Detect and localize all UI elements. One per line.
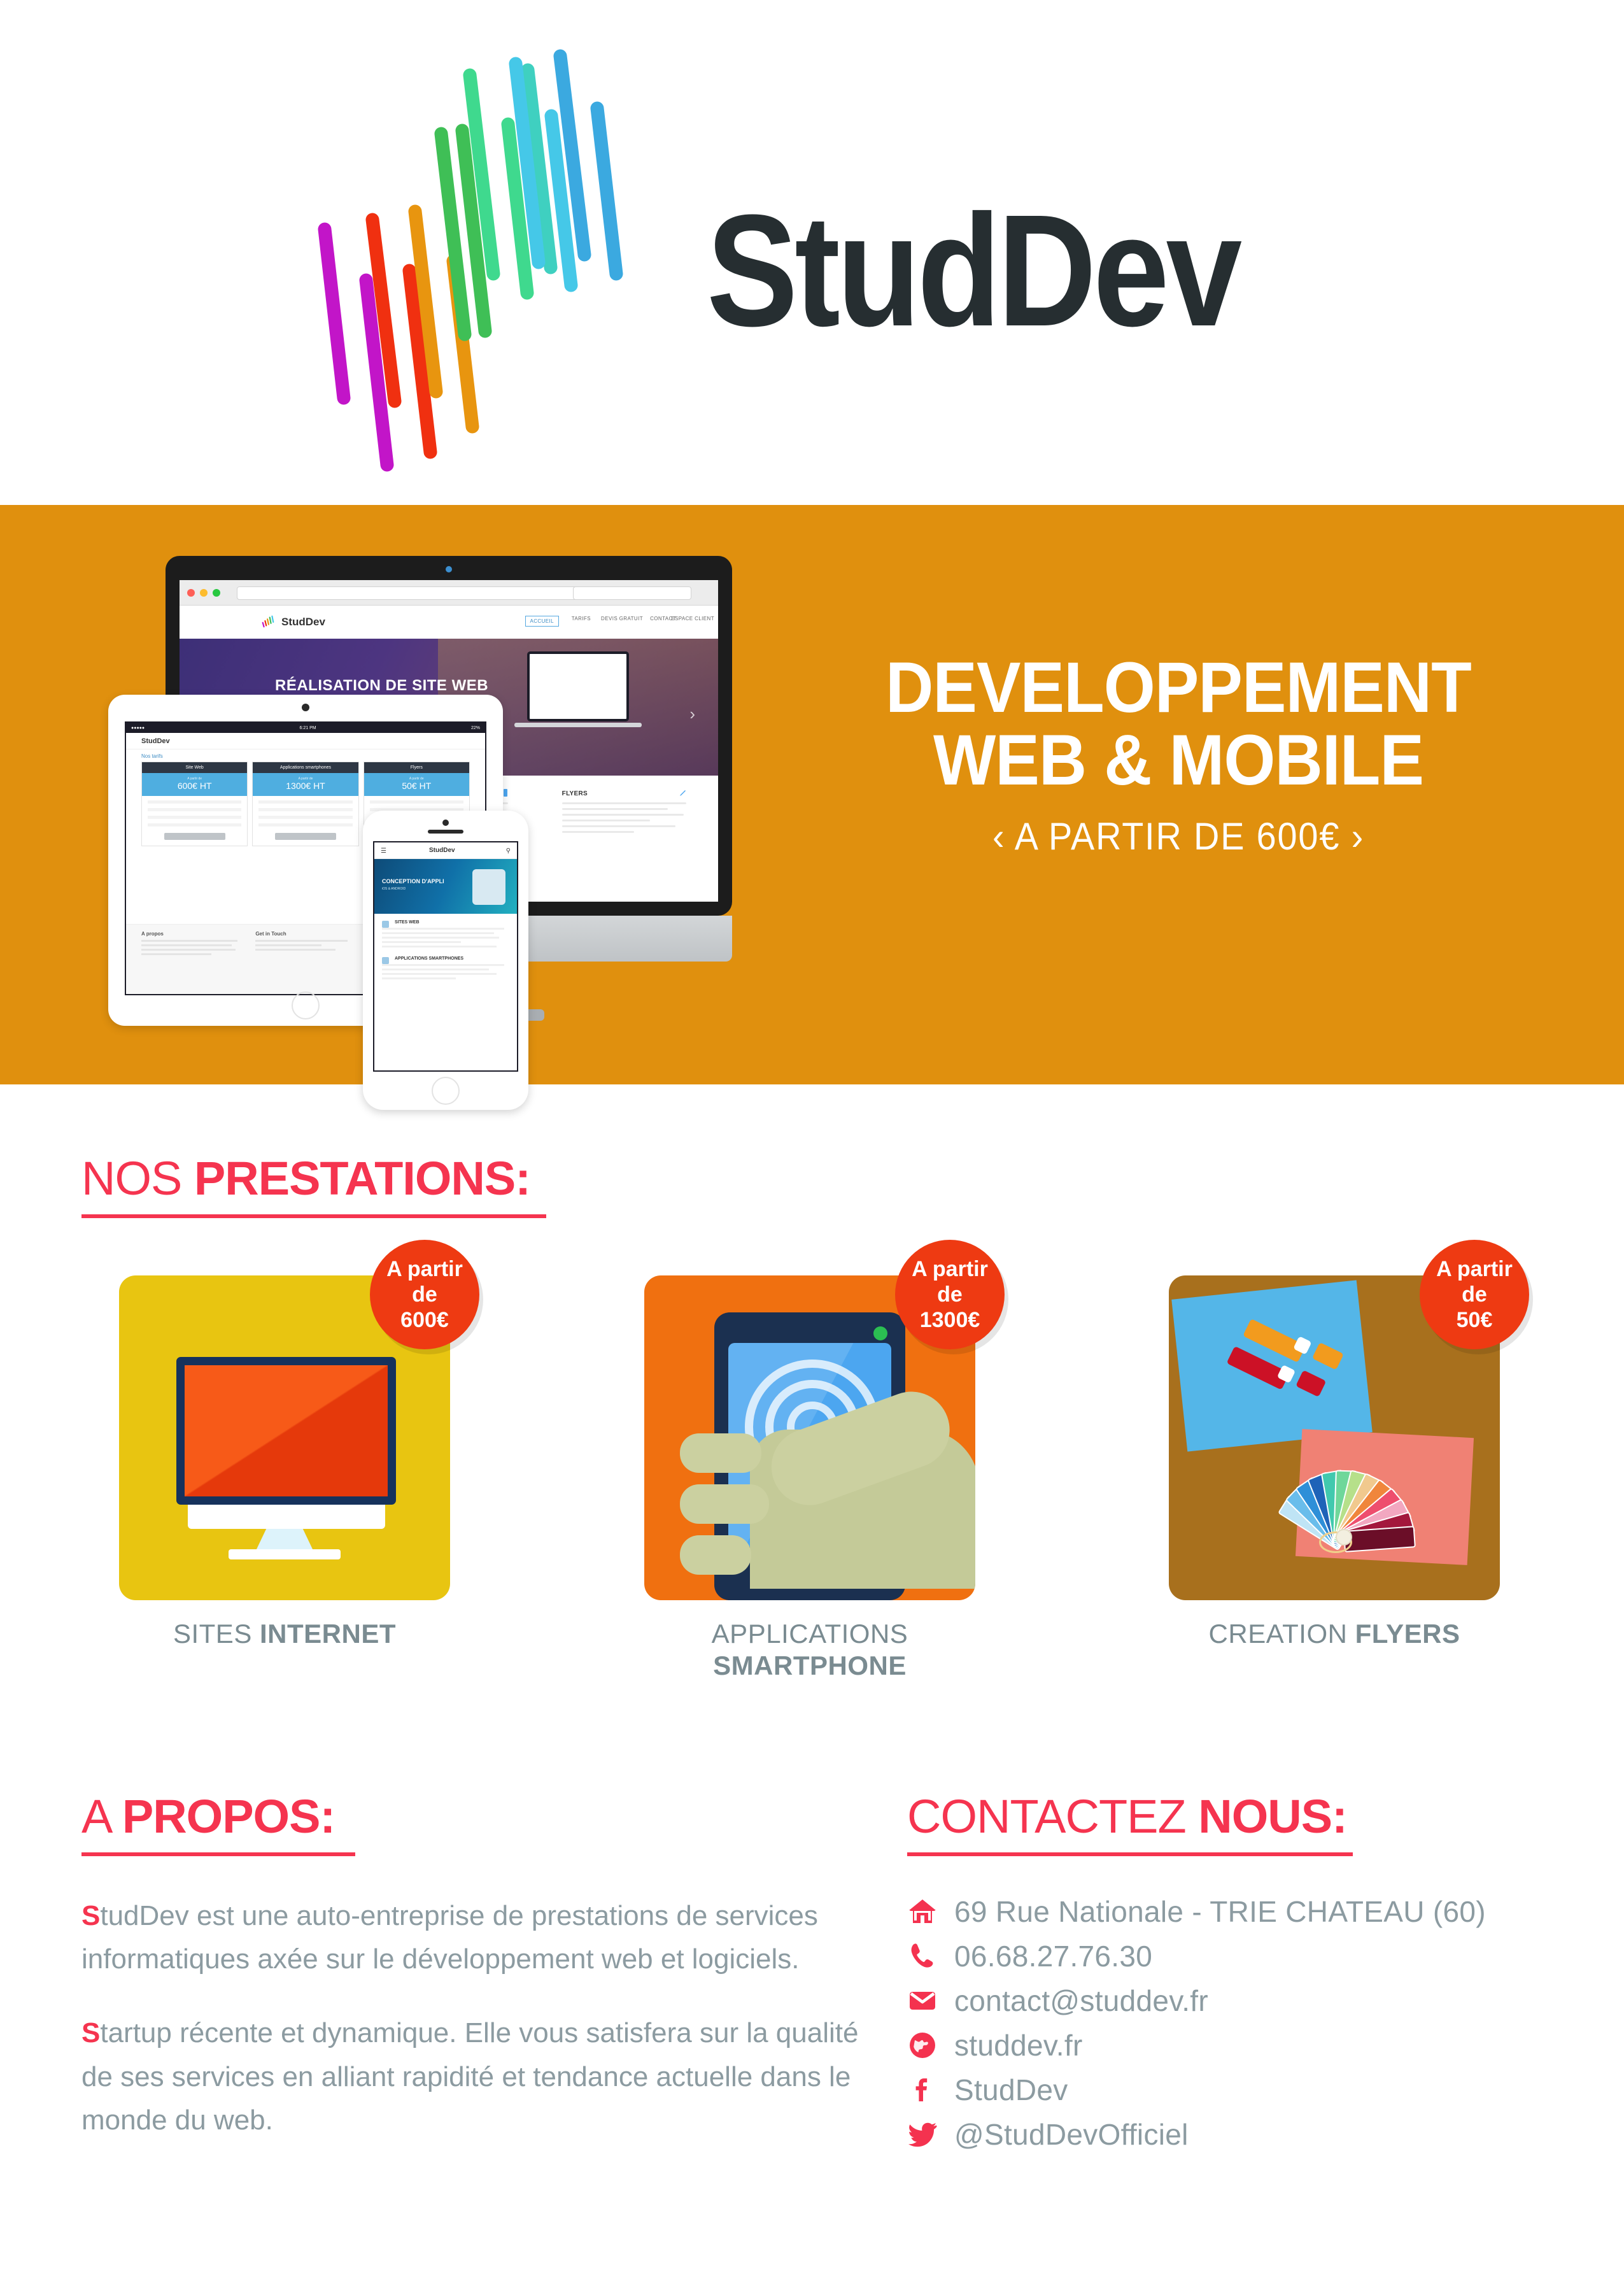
about-paragraph-1-text: tudDev est une auto-entreprise de presta… [81,1900,818,1975]
tablet-section-title: Nos tarifs [126,749,485,762]
section-underline [907,1852,1353,1856]
laptop-illustration [527,651,629,721]
mockup-column-flyers: FLYERS [562,790,691,837]
service-card-creation-flyers[interactable]: A partir de 50€ CREATION FLYERS [1169,1275,1500,1650]
contact-twitter-text[interactable]: @StudDevOfficiel [954,2117,1189,2152]
plan-name: Flyers [364,762,469,773]
label-bold-part: SMARTPHONE [713,1651,907,1680]
drop-cap: S [81,2017,100,2048]
label-light-part: SITES [173,1619,260,1649]
label-light-part: APPLICATIONS [712,1619,908,1649]
section-title-about: A PROPOS: [81,1789,877,1843]
phone-hero-title: CONCEPTION D'APPLI [382,878,444,884]
plan-price: 600€ HT [178,781,212,791]
title-bold-part: PRESTATIONS: [194,1152,530,1205]
phone-hero: CONCEPTION D'APPLI iOS & ANDROID [374,859,517,914]
footer-col-title: Get in Touch [255,931,355,937]
smartphone-icon [382,957,389,964]
phone-section-title: SITES WEB [395,920,509,925]
pricing-card[interactable]: Site Web A partir de600€ HT [141,762,248,846]
contact-row-website: studdev.fr [907,2028,1582,2062]
plan-devis-button[interactable] [164,833,225,840]
plan-prefix: A partir de [364,777,469,781]
plan-name: Applications smartphones [253,762,358,773]
page-header: StudDev [0,0,1624,505]
browser-search-input[interactable] [573,586,691,600]
imac-camera-icon [446,566,452,572]
device-mockup-group: StudDev ACCUEIL TARIFS DEVIS GRATUIT CON… [108,556,764,1046]
tablet-camera-icon [302,704,309,711]
badge-line-2: de [412,1282,437,1307]
maximize-window-icon[interactable] [213,589,220,597]
phone-section-apps: APPLICATIONS SMARTPHONES [374,950,517,979]
phone-screen: ☰ StudDev ⚲ CONCEPTION D'APPLI iOS & AND… [373,841,518,1072]
facebook-icon [907,2075,954,2105]
mockup-hero-title: RÉALISATION DE SITE WEB [275,677,488,695]
service-card-sites-internet[interactable]: A partir de 600€ SITES INTERNET [119,1275,450,1650]
service-card-label: CREATION FLYERS [1169,1618,1500,1650]
mockup-nav-espace-client[interactable]: ESPACE CLIENT [671,616,714,621]
phone-hero-subtitle: iOS & ANDROID [382,887,406,891]
price-badge: A partir de 1300€ [895,1240,1005,1349]
service-card-label: APPLICATIONS SMARTPHONE [644,1618,975,1681]
search-icon[interactable]: ⚲ [506,848,511,855]
phone-home-button[interactable] [432,1077,460,1105]
label-light-part: CREATION [1209,1619,1355,1649]
phone-speaker [428,830,463,834]
hero-title-line2: WEB & MOBILE [829,724,1527,797]
status-battery: 22% [471,726,480,730]
globe-icon [907,2030,954,2061]
badge-line-2: de [1462,1282,1487,1307]
contact-section: CONTACTEZ NOUS: 69 Rue Nationale - TRIE … [907,1789,1582,2162]
badge-line-2: de [937,1282,963,1307]
phone-section-title: APPLICATIONS SMARTPHONES [395,956,509,961]
service-tile[interactable]: A partir de 50€ [1169,1275,1500,1600]
tablet-site-nav: StudDev [126,733,485,749]
price-badge: A partir de 50€ [1420,1240,1529,1349]
site-logo-mark-icon [261,614,275,628]
about-paragraph-1: StudDev est une auto-entreprise de prest… [81,1894,877,1981]
title-bold-part: NOUS: [1198,1790,1346,1843]
home-icon [907,1896,954,1927]
section-underline [81,1214,546,1218]
service-tile[interactable]: A partir de 600€ [119,1275,450,1600]
title-light-part: NOS [81,1152,194,1205]
chevron-left-icon: ‹ [992,815,1005,858]
badge-line-3: 1300€ [920,1307,980,1333]
hamburger-menu-icon[interactable]: ☰ [381,848,386,855]
hero-title-line1: DEVELOPPEMENT [829,651,1527,724]
carousel-next-icon[interactable]: › [689,704,695,724]
about-body: StudDev est une auto-entreprise de prest… [81,1894,877,2142]
status-time: 6:21 PM [300,726,316,730]
laptop-base [514,723,642,727]
plan-prefix: A partir de [253,777,358,781]
label-bold-part: INTERNET [260,1619,396,1649]
service-tile[interactable]: A partir de 1300€ [644,1275,975,1600]
title-bold-part: PROPOS: [122,1790,335,1843]
plan-price: 50€ HT [402,781,431,791]
studdev-logo-mark [306,45,662,503]
plan-prefix: A partir de [142,777,247,781]
badge-line-3: 600€ [400,1307,449,1333]
status-signal-icon: ●●●●● [131,726,145,730]
phone-section-sites: SITES WEB [374,914,517,948]
plan-price: 1300€ HT [286,781,325,791]
contact-row-email: contact@studdev.fr [907,1984,1582,2018]
browser-url-input[interactable] [237,586,581,600]
mockup-site-logo: StudDev [281,616,325,628]
mockup-site-nav: StudDev ACCUEIL TARIFS DEVIS GRATUIT CON… [180,606,718,639]
service-card-applications-smartphone[interactable]: A partir de 1300€ APPLICATIONS SMARTPHON… [644,1275,975,1681]
close-window-icon[interactable] [187,589,195,597]
minimize-window-icon[interactable] [200,589,208,597]
tablet-status-bar: ●●●●● 6:21 PM 22% [126,723,485,733]
mockup-nav-tarifs[interactable]: TARIFS [572,616,591,621]
phone-site-logo: StudDev [429,847,455,854]
contact-row-facebook: StudDev [907,2073,1582,2107]
plan-devis-button[interactable] [275,833,336,840]
hero-banner: StudDev ACCUEIL TARIFS DEVIS GRATUIT CON… [0,505,1624,1084]
phone-camera-icon [442,820,449,826]
section-title-prestations: NOS PRESTATIONS: [81,1151,546,1205]
badge-line-1: A partir [912,1256,988,1282]
hero-text-block: DEVELOPPEMENT WEB & MOBILE ‹ A PARTIR DE… [803,651,1554,858]
pencil-icon [679,788,688,797]
contact-website-text[interactable]: studdev.fr [954,2028,1083,2062]
hero-price-text: A PARTIR DE 600€ [1015,815,1341,858]
about-section: A PROPOS: StudDev est une auto-entrepris… [81,1789,877,2142]
contact-row-twitter: @StudDevOfficiel [907,2117,1582,2152]
about-paragraph-2: Startup récente et dynamique. Elle vous … [81,2012,877,2142]
desktop-icon [382,921,389,928]
contact-facebook-text[interactable]: StudDev [954,2073,1068,2107]
contact-email-text[interactable]: contact@studdev.fr [954,1984,1208,2018]
badge-line-1: A partir [1436,1256,1513,1282]
pricing-card[interactable]: Applications smartphones A partir de1300… [252,762,358,846]
badge-line-3: 50€ [1457,1307,1493,1333]
phone-site-nav: ☰ StudDev ⚲ [374,842,517,859]
phone-mockup: ☰ StudDev ⚲ CONCEPTION D'APPLI iOS & AND… [363,811,528,1110]
tablet-home-button[interactable] [292,991,320,1019]
contact-row-phone: 06.68.27.76.30 [907,1939,1582,1973]
price-badge: A partir de 600€ [370,1240,479,1349]
section-underline [81,1852,355,1856]
mockup-nav-accueil[interactable]: ACCUEIL [525,616,559,627]
title-light-part: A [81,1790,122,1843]
envelope-icon [907,1985,954,2016]
hero-subtitle: ‹ A PARTIR DE 600€ › [829,814,1527,858]
label-bold-part: FLYERS [1355,1619,1460,1649]
about-paragraph-2-text: tartup récente et dynamique. Elle vous s… [81,2017,858,2135]
chevron-right-icon: › [1352,815,1364,858]
services-heading: NOS PRESTATIONS: [81,1151,546,1218]
twitter-icon [907,2119,954,2150]
badge-line-1: A partir [386,1256,463,1282]
phone-icon [907,1941,954,1971]
tablet-site-logo: StudDev [141,737,170,745]
brand-wordmark: StudDev [707,191,1239,350]
footer-col-title: A propos [141,931,241,937]
section-title-contact: CONTACTEZ NOUS: [907,1789,1582,1843]
plan-name: Site Web [142,762,247,773]
mockup-nav-devis[interactable]: DEVIS GRATUIT [601,616,643,621]
drop-cap: S [81,1900,100,1931]
contact-phone-text[interactable]: 06.68.27.76.30 [954,1939,1152,1973]
browser-toolbar [180,580,718,606]
title-light-part: CONTACTEZ [907,1790,1198,1843]
phone-hero-illustration [472,869,505,905]
mockup-column-head: FLYERS [562,790,691,799]
contact-list: 69 Rue Nationale - TRIE CHATEAU (60) 06.… [907,1894,1582,2152]
contact-row-address: 69 Rue Nationale - TRIE CHATEAU (60) [907,1894,1582,1929]
contact-address-text[interactable]: 69 Rue Nationale - TRIE CHATEAU (60) [954,1894,1486,1929]
service-card-label: SITES INTERNET [119,1618,450,1650]
